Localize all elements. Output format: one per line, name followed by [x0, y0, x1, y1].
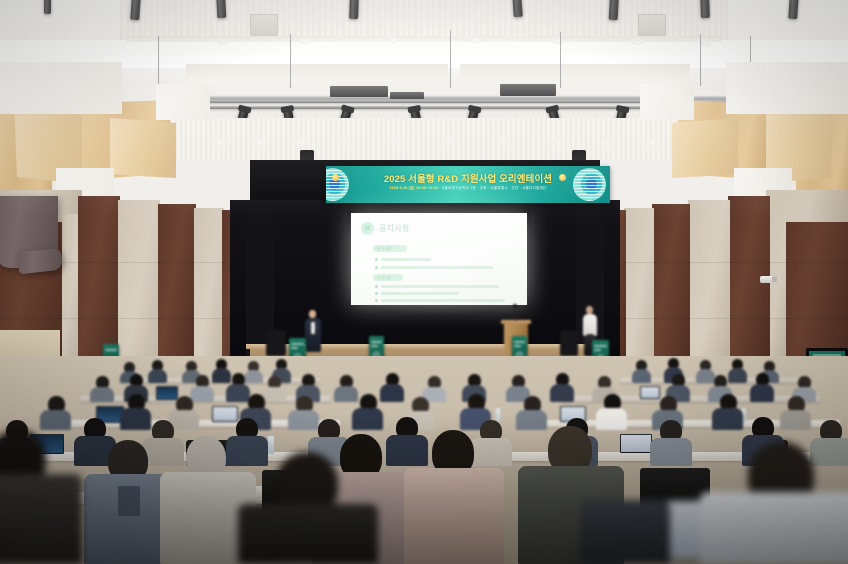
banner-title: 2025 서울형 R&D 지원사업 오리엔테이션 [326, 171, 610, 185]
banner-host: 주최 : 서울특별시 [480, 186, 508, 190]
event-banner: 2025 서울형 R&D 지원사업 오리엔테이션 2025.9.26.(금) 1… [326, 166, 610, 203]
slide-chip-1-label: 유의사항 [377, 246, 392, 252]
banner-place: 서울로봇고등학교 1층 [441, 186, 476, 190]
banner-org: 주관 : 서울디지털재단 [511, 186, 546, 190]
stage-speaker-cabinet-left [266, 330, 286, 356]
podium-microphone [513, 304, 517, 308]
security-camera [760, 276, 773, 283]
ceiling-recess-left [186, 64, 448, 82]
wall-white-right-inner [640, 84, 694, 120]
staff-head [586, 306, 593, 314]
truss-fixture-right [500, 84, 556, 96]
ceiling-air-vent [638, 14, 666, 36]
staff-shirt [583, 314, 597, 336]
wall-white-left-upper [0, 62, 122, 114]
wall-beige-panel-left-4 [118, 200, 160, 382]
stage-speaker-cabinet-right [560, 330, 578, 356]
ceiling-air-vent [250, 14, 278, 36]
slide-chip-2-label: 문의사항 [377, 275, 392, 281]
truss-fixture-center [390, 92, 424, 99]
wall-wood-panel-right-4 [672, 118, 738, 178]
podium-microphone-stem [515, 307, 516, 321]
ceiling-panel-wall [150, 118, 698, 160]
podium-top [501, 320, 531, 324]
ceiling-recess-right [460, 64, 690, 82]
projection-screen: 02 공지사항 유의사항 문의사항 [351, 213, 527, 305]
ceiling-acoustic-grid [120, 0, 728, 40]
wall-white-left-inner [156, 84, 210, 120]
truss-fixture-left [330, 86, 388, 97]
conference-photo: 2025 서울형 R&D 지원사업 오리엔테이션 2025.9.26.(금) 1… [0, 0, 848, 564]
wall-white-right-upper [726, 62, 848, 114]
slide-section-title: 공지사항 [379, 223, 410, 234]
slide-section-badge: 02 [361, 222, 374, 235]
banner-date: 2025.9.26.(금) 14:00~16:00 [389, 186, 438, 190]
slide-chip-1: 유의사항 [373, 245, 407, 252]
wall-dark-panel-right-3 [728, 196, 770, 382]
banner-subtitle: 2025.9.26.(금) 14:00~16:00 서울로봇고등학교 1층 주최… [326, 186, 610, 191]
presenter-shirt [311, 322, 315, 334]
slide-section-number: 02 [361, 226, 374, 232]
wall-beige-panel-right-4 [688, 200, 730, 382]
presenter-on-stage [304, 310, 322, 352]
wall-wood-panel-left-4 [110, 118, 176, 178]
presenter-head [309, 310, 316, 318]
slide-chip-2: 문의사항 [373, 274, 403, 281]
